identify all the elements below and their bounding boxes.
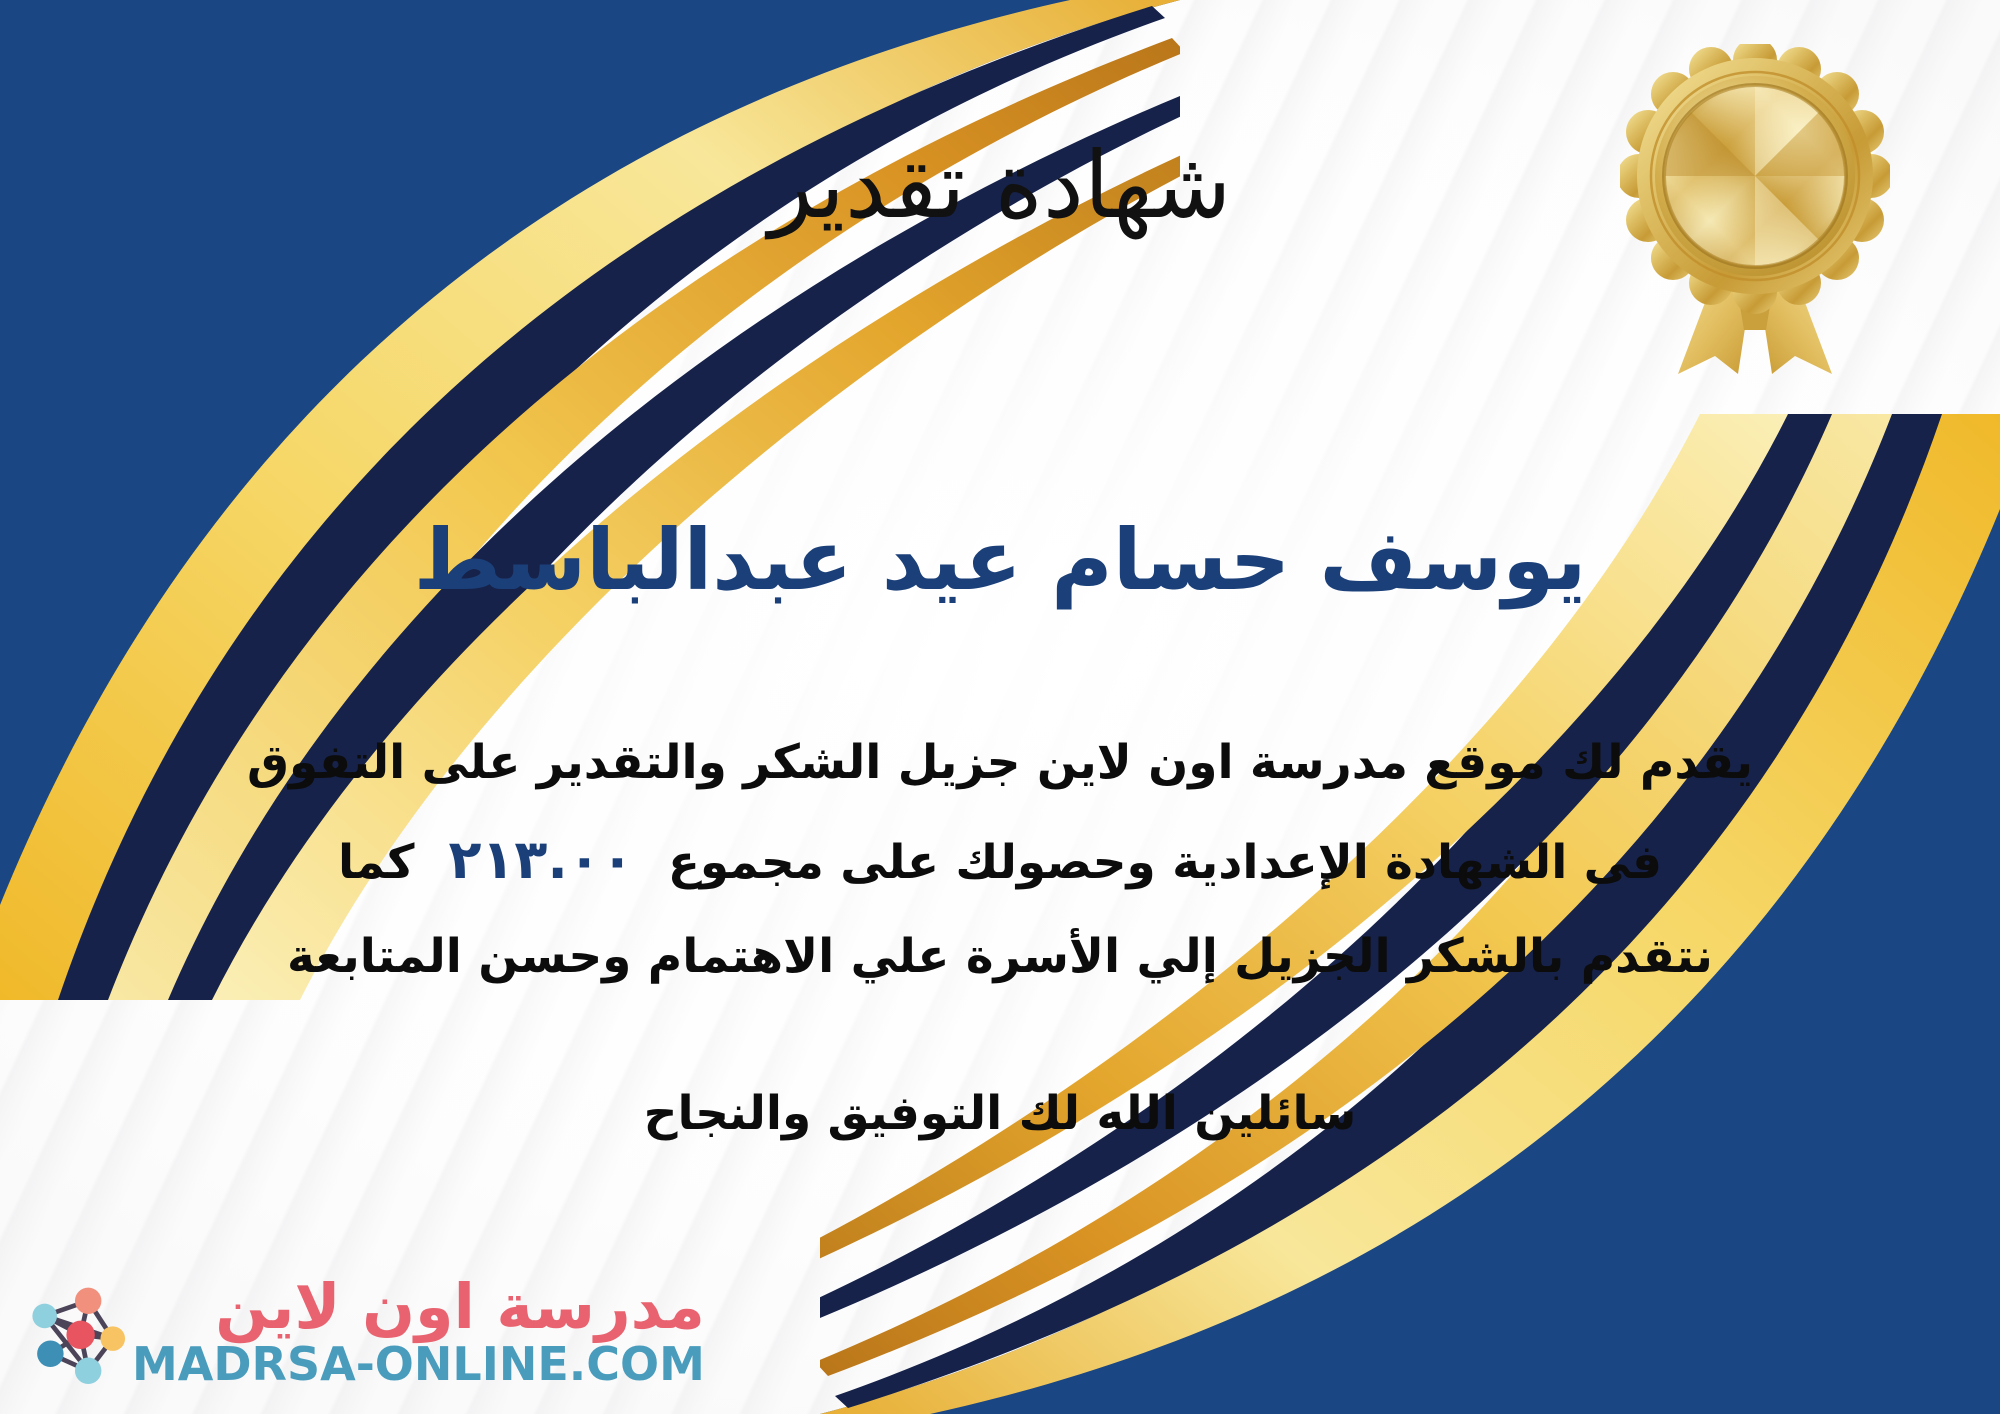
- closing-line: سائلين الله لك التوفيق والنجاح: [0, 1086, 2000, 1141]
- certificate-title: شهادة تقدير: [0, 138, 2000, 235]
- brand-website: MADRSA-ONLINE.COM: [132, 1339, 705, 1390]
- body-line-2-right: فى الشهادة الإعدادية وحصولك على مجموع: [668, 835, 1662, 890]
- score-value: ٢١٣.٠٠: [415, 808, 668, 912]
- brand-arabic-name: مدرسة اون لاين: [215, 1274, 705, 1339]
- body-line-2: فى الشهادة الإعدادية وحصولك على مجموع٢١٣…: [60, 808, 1940, 912]
- body-line-2-left: كما: [338, 835, 415, 890]
- network-nodes-logo-icon: [22, 1280, 126, 1384]
- body-line-3: نتقدم بالشكر الجزيل إلي الأسرة علي الاهت…: [60, 912, 1940, 1002]
- certificate-canvas: شهادة تقدير يوسف حسام عيد عبدالباسط يقدم…: [0, 0, 2000, 1414]
- brand-text: مدرسة اون لاين MADRSA-ONLINE.COM: [132, 1274, 705, 1390]
- recipient-name: يوسف حسام عيد عبدالباسط: [0, 514, 2000, 606]
- brand-logo: مدرسة اون لاين MADRSA-ONLINE.COM: [22, 1274, 705, 1390]
- body-line-1: يقدم لك موقع مدرسة اون لاين جزيل الشكر و…: [60, 718, 1940, 808]
- certificate-body: يقدم لك موقع مدرسة اون لاين جزيل الشكر و…: [60, 718, 1940, 1002]
